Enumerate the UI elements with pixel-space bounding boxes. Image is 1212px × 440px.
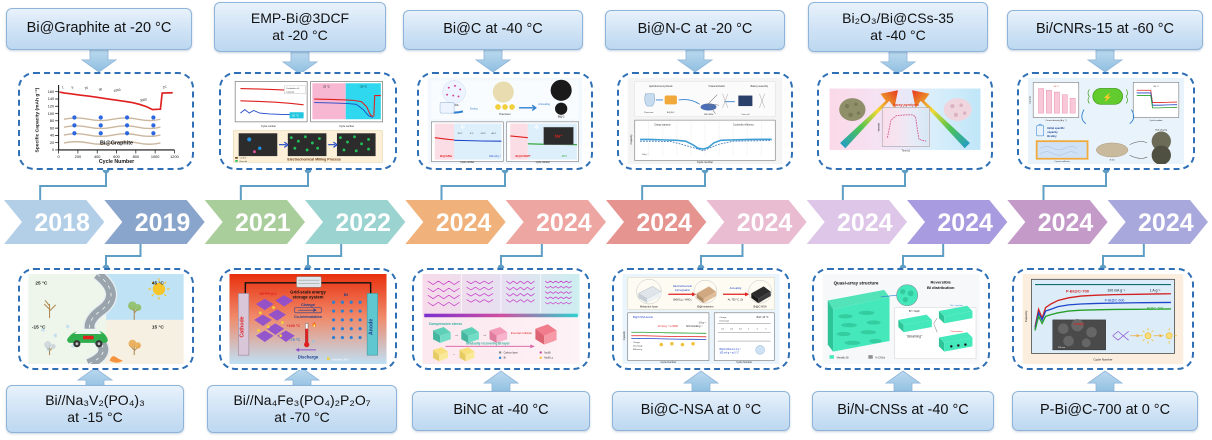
top-label-6[interactable]: Bi/CNRs-15 at -60 °C	[1007, 10, 1203, 50]
svg-text:Current density (A g⁻¹): Current density (A g⁻¹)	[1045, 119, 1066, 122]
svg-text:Both -40 °C: Both -40 °C	[757, 316, 769, 319]
callout-arrow-down-1	[283, 52, 317, 74]
timeline-year-label-2: 2021	[235, 209, 291, 237]
panel-top-5[interactable]: Spray pyrolysis Time (s) Intensity	[817, 72, 993, 170]
svg-text:Characterization: Characterization	[709, 85, 726, 88]
svg-text:impregnation: impregnation	[675, 288, 691, 292]
panel-top-2-figure: Coulombic eff.Capacity -20 °C Cycle numb…	[225, 78, 391, 164]
svg-text:Grid-scale energy: Grid-scale energy	[290, 289, 326, 294]
svg-text:60: 60	[50, 126, 54, 130]
callout-arrow-down-3	[678, 50, 712, 72]
panel-bottom-5-figure: Quasi-array structure Reversible Bi dist…	[818, 274, 984, 364]
bottom-label-2[interactable]: Bi//Na₄Fe₃(PO₄)₂P₂O₇ at -70 °C	[207, 385, 397, 433]
svg-text:160: 160	[48, 90, 54, 94]
svg-text:Ar, 700 °C, 2h: Ar, 700 °C, 2h	[728, 298, 744, 301]
connector-bottom-5	[1103, 244, 1144, 268]
svg-text:Precursor: Precursor	[499, 112, 511, 116]
svg-text:25 °C: 25 °C	[35, 281, 48, 287]
timeline-year-label-9: 2024	[937, 209, 993, 237]
panel-top-1[interactable]: 02040 6080100 120140160 0200400 60080010…	[18, 72, 194, 170]
callout-arrow-up-5	[1088, 371, 1122, 393]
svg-text:100: 100	[48, 112, 54, 116]
bottom-label-1[interactable]: Bi//Na₃V₂(PO₄)₃ at -15 °C	[6, 385, 184, 433]
svg-text:200: 200	[75, 155, 81, 159]
timeline-year-label-7: 2024	[737, 209, 793, 237]
svg-text:-20°C: -20°C	[480, 133, 486, 135]
svg-text:2C: 2C	[162, 85, 167, 90]
svg-text:Bi@C-NSA anode: Bi@C-NSA anode	[633, 316, 653, 319]
svg-text:100 mA g⁻¹: 100 mA g⁻¹	[1107, 289, 1126, 293]
svg-text:1000: 1000	[113, 88, 121, 93]
timeline-year-label-0: 2018	[34, 209, 90, 237]
timeline-year-label-3: 2022	[335, 209, 391, 237]
svg-text:❄: ❄	[534, 124, 539, 131]
svg-text:Co-intercalation: Co-intercalation	[294, 315, 323, 319]
svg-text:Internal collision: Internal collision	[511, 331, 533, 335]
top-label-4-text: Bi@N-C at -20 °C	[638, 21, 753, 39]
svg-text:Bi distribution: Bi distribution	[927, 285, 955, 290]
svg-text:❄: ❄	[65, 325, 69, 331]
panel-top-6[interactable]: -20 °C Current density (A g⁻¹) Capacity …	[1017, 72, 1195, 170]
svg-text:Coin cell: Coin cell	[741, 114, 750, 116]
svg-text:Bi: Bi	[344, 292, 348, 297]
bottom-label-1-line2: at -15 °C	[67, 409, 122, 426]
svg-text:Bi@Graphite: Bi@Graphite	[100, 141, 133, 147]
panel-top-5-figure: Spray pyrolysis Time (s) Intensity	[823, 78, 987, 164]
svg-text:0°C: 0°C	[470, 133, 474, 135]
svg-text:P-Bi@C-700: P-Bi@C-700	[1066, 289, 1090, 294]
svg-text:25 °C: 25 °C	[323, 85, 330, 89]
connector-bottom-4	[903, 244, 943, 268]
top-label-2-line1: EMP-Bi@3DCF	[251, 10, 349, 27]
panel-top-1-figure: 02040 6080100 120140160 0200400 60080010…	[24, 78, 188, 164]
svg-text:Cycle number: Cycle number	[697, 160, 713, 164]
top-label-3[interactable]: Bi@C at -40 °C	[403, 10, 583, 50]
bottom-label-6[interactable]: P-Bi@C-700 at 0 °C	[1012, 391, 1198, 431]
svg-text:Discharge: Discharge	[633, 345, 643, 347]
connector-top-0	[40, 170, 106, 200]
bottom-label-2-line2: at -70 °C	[274, 409, 329, 426]
svg-text:Annealing: Annealing	[730, 286, 742, 290]
svg-text:20: 20	[84, 86, 88, 91]
svg-text:-20 °C: -20 °C	[360, 85, 368, 89]
connector-bottom-2	[501, 244, 542, 268]
svg-text:❄: ❄	[460, 124, 465, 131]
top-label-4[interactable]: Bi@N-C at -20 °C	[605, 10, 785, 50]
callout-arrow-down-2	[476, 50, 510, 72]
timeline-year-label-6: 2024	[636, 209, 692, 237]
bottom-label-6-text: P-Bi@C-700 at 0 °C	[1040, 402, 1170, 420]
svg-text:500 nm: 500 nm	[1058, 347, 1065, 349]
svg-text:Efficiency: Efficiency	[633, 349, 643, 351]
panel-bottom-3[interactable]: Compressive stress → → Internal collisio…	[412, 268, 590, 370]
svg-text:Charge: Charge	[301, 302, 316, 307]
top-label-3-text: Bi@C at -40 °C	[443, 21, 543, 39]
svg-text:Melamine foam: Melamine foam	[640, 305, 659, 309]
svg-text:Na⁺ insertion: Na⁺ insertion	[950, 304, 963, 307]
connector-top-1	[241, 170, 308, 200]
connector-top-2	[442, 170, 506, 200]
svg-text:Specific Capacity (mAh g⁻¹): Specific Capacity (mAh g⁻¹)	[34, 87, 40, 152]
connector-bottom-1	[308, 244, 341, 268]
svg-text:Bi@melamine: Bi@melamine	[697, 305, 714, 309]
svg-text:Carbon layer: Carbon layer	[504, 351, 518, 354]
svg-text:Capacity: Capacity	[623, 330, 626, 340]
bottom-label-3-text: BiNC at -40 °C	[453, 402, 548, 420]
svg-text:NaₓBi_y: NaₓBi_y	[544, 357, 554, 360]
timeline-year-label-1: 2019	[135, 209, 191, 237]
svg-text:capacity: capacity	[1047, 130, 1058, 134]
top-label-2[interactable]: EMP-Bi@3DCF at -20 °C	[214, 2, 386, 52]
svg-text:Bi alloy: Bi alloy	[1047, 134, 1057, 138]
svg-text:Cathode: Cathode	[240, 316, 246, 337]
svg-text:Na₃Bi: Na₃Bi	[544, 351, 551, 354]
svg-text:Battery assembly: Battery assembly	[751, 85, 769, 88]
svg-text:Charge: Charge	[720, 317, 728, 319]
svg-text:40: 40	[50, 134, 54, 138]
bottom-label-4-text: Bi@C-NSA at 0 °C	[641, 402, 761, 420]
top-label-1[interactable]: Bi@Graphite at -20 °C	[6, 8, 192, 50]
svg-text:Na⁺: Na⁺	[555, 134, 563, 139]
svg-text:1 A g⁻¹: 1 A g⁻¹	[642, 153, 649, 156]
timeline-bar: 2018201920212022202420242024202420242024…	[4, 200, 1208, 244]
svg-text:Compressive stress: Compressive stress	[429, 322, 462, 326]
svg-text:15 °C: 15 °C	[152, 325, 165, 331]
top-label-2-line2: at -20 °C	[272, 27, 327, 44]
top-label-5-line2: at -40 °C	[870, 27, 925, 44]
svg-text:Reversible: Reversible	[930, 280, 951, 285]
svg-text:"Breathing": "Breathing"	[906, 335, 923, 339]
svg-text:Spray pyrolysis: Spray pyrolysis	[893, 103, 919, 107]
svg-text:3000: 3000	[140, 97, 148, 102]
svg-text:Capacity: Capacity	[1024, 310, 1028, 322]
callout-arrow-down-4	[881, 52, 915, 74]
svg-text:Bismuth: Bismuth	[240, 160, 248, 163]
svg-text:140: 140	[48, 97, 54, 101]
svg-text:Coulombic efficiency: Coulombic efficiency	[733, 124, 755, 126]
svg-text:Discharge: Discharge	[298, 355, 319, 360]
timeline-year-label-4: 2024	[436, 209, 492, 237]
svg-text:Bi@C-NSA: Bi@C-NSA	[754, 305, 767, 309]
svg-text:→: →	[454, 332, 458, 337]
svg-text:25°C: 25°C	[458, 133, 463, 135]
svg-text:Carbon: Carbon	[240, 157, 248, 160]
svg-text:100 mA g⁻¹ at 0 °C: 100 mA g⁻¹ at 0 °C	[720, 351, 740, 354]
panel-bottom-3-figure: Compressive stress → → Internal collisio…	[418, 274, 584, 364]
svg-text:Bi@C-NSA at 1 A g⁻¹: Bi@C-NSA at 1 A g⁻¹	[720, 348, 742, 351]
svg-text:5: 5	[71, 85, 74, 89]
svg-text:❄: ❄	[312, 339, 316, 344]
svg-text:Cycle number: Cycle number	[339, 125, 354, 128]
connector-top-4	[843, 170, 905, 200]
top-label-5-line1: Bi₂O₃/Bi@CSs-35	[842, 10, 954, 27]
figure-vector-layer: 2018201920212022202420242024202420242024…	[0, 0, 1212, 440]
svg-text:Bi@C: Bi@C	[558, 114, 565, 118]
top-label-6-text: Bi/CNRs-15 at -60 °C	[1036, 21, 1174, 39]
svg-text:Cycle number: Cycle number	[460, 162, 474, 164]
panel-top-6-figure: -20 °C Current density (A g⁻¹) Capacity …	[1023, 78, 1189, 164]
svg-text:❄: ❄	[46, 348, 50, 354]
callout-arrow-up-4	[886, 371, 920, 393]
svg-text:0: 0	[52, 148, 54, 152]
svg-text:Discharge: Discharge	[720, 321, 730, 323]
timeline-year-label-10: 2024	[1038, 209, 1094, 237]
svg-text:0: 0	[58, 155, 60, 159]
svg-text:Cycle Number: Cycle Number	[1093, 357, 1112, 361]
top-label-5[interactable]: Bi₂O₃/Bi@CSs-35 at -40 °C	[808, 2, 988, 52]
panel-bottom-1[interactable]: ❄❄❄ ❄❄ 25 °C 45 °C -15 °C 15	[18, 268, 194, 370]
connector-bottom-0	[106, 244, 141, 268]
svg-text:🔥: 🔥	[312, 322, 318, 327]
svg-text:Bi@C/Na: Bi@C/Na	[440, 154, 452, 158]
svg-text:-15 °C: -15 °C	[32, 325, 46, 331]
timeline-year-label-8: 2024	[837, 209, 893, 237]
svg-text:100 mA g⁻¹: 100 mA g⁻¹	[489, 155, 501, 158]
svg-text:Electrochemical Milling Proces: Electrochemical Milling Process	[287, 157, 341, 161]
svg-text:Cycle number: Cycle number	[1150, 119, 1163, 122]
bottom-label-1-line1: Bi//Na₃V₂(PO₄)₃	[45, 392, 145, 409]
svg-text:1200: 1200	[170, 155, 179, 159]
svg-text:1 A g⁻¹: 1 A g⁻¹	[1150, 289, 1162, 293]
svg-text:1 A g⁻¹: 1 A g⁻¹	[698, 321, 706, 324]
svg-text:Cycle Number: Cycle Number	[99, 159, 134, 164]
callout-arrow-down-5	[1088, 50, 1122, 72]
svg-text:storage system: storage system	[293, 295, 324, 300]
svg-text:-20 °C: -20 °C	[1053, 86, 1059, 88]
bottom-label-5-text: Bi/N-CNSs at -40 °C	[837, 402, 969, 420]
panel-top-2[interactable]: Coulombic eff.Capacity -20 °C Cycle numb…	[219, 72, 397, 170]
panel-top-4-figure: Hydrothermal synthesis Characterization …	[623, 78, 787, 164]
svg-text:Drying: Drying	[470, 107, 478, 111]
svg-text:Bi foil: Bi foil	[1110, 159, 1115, 161]
svg-text:NFPP@C: NFPP@C	[259, 291, 277, 296]
connector-top-5	[1044, 170, 1107, 200]
svg-text:50: 50	[98, 87, 102, 92]
svg-text:P-Bi@C: P-Bi@C	[1074, 322, 1086, 326]
callout-arrow-up-3	[684, 371, 718, 393]
svg-text:Capacity: Capacity	[286, 90, 295, 93]
svg-text:⚡: ⚡	[1103, 92, 1113, 102]
svg-text:Pulverization: Pulverization	[951, 330, 964, 333]
bottom-label-3[interactable]: BiNC at -40 °C	[412, 391, 590, 431]
svg-text:Coulombic eff.: Coulombic eff.	[286, 88, 300, 90]
timeline-year-label-11: 2024	[1138, 209, 1194, 237]
svg-text:Electrochemical: Electrochemical	[673, 284, 692, 288]
svg-text:80: 80	[50, 119, 54, 123]
svg-text:Bi@N-C: Bi@N-C	[667, 112, 675, 114]
svg-text:Precursor: Precursor	[644, 111, 653, 114]
svg-text:+100 °C: +100 °C	[287, 324, 301, 328]
svg-text:Time (s): Time (s)	[902, 151, 910, 153]
svg-text:Bi@C//NVP: Bi@C//NVP	[516, 154, 531, 158]
svg-text:Quasi-array structure: Quasi-array structure	[834, 281, 879, 286]
svg-text:Capacity: Capacity	[1029, 95, 1032, 104]
svg-text:Bulk alloying: Bulk alloying	[1155, 130, 1168, 132]
svg-text:Bi@C-700: Bi@C-700	[1147, 306, 1163, 310]
panel-bottom-5[interactable]: Quasi-array structure Reversible Bi dist…	[812, 268, 990, 370]
bottom-label-5[interactable]: Bi/N-CNSs at -40 °C	[812, 391, 994, 431]
panel-top-3[interactable]: NTCDA Drying Precursor Annealing Bi@C	[417, 72, 593, 170]
svg-text:1: 1	[61, 85, 64, 89]
panel-bottom-4[interactable]: Melamine foam Electrochemical impregnati…	[612, 268, 790, 370]
svg-text:→: →	[482, 332, 486, 337]
callout-arrow-down-0	[82, 50, 116, 72]
svg-text:solvated Na⁺: solvated Na⁺	[332, 357, 350, 361]
svg-text:Capacity: Capacity	[629, 134, 633, 145]
connector-bottom-3	[701, 244, 743, 268]
svg-text:→: →	[452, 352, 456, 356]
panel-bottom-6[interactable]: P-Bi@C-700 100 mA g⁻¹ 1 A g⁻¹ P-Bi@C-600…	[1012, 268, 1194, 370]
svg-text:-40°C: -40°C	[561, 156, 567, 158]
bottom-label-2-line1: Bi//Na₄Fe₃(PO₄)₂P₂O₇	[233, 392, 370, 409]
bottom-label-4[interactable]: Bi@C-NSA at 0 °C	[612, 391, 790, 431]
panel-bottom-2[interactable]: Cathode Anode NFPP@C	[219, 268, 397, 370]
svg-text:-60 °C: -60 °C	[1153, 86, 1159, 88]
svg-text:Initial specific: Initial specific	[1047, 126, 1065, 130]
svg-text:-70 °C: -70 °C	[290, 338, 301, 342]
svg-text:Cycle number: Cycle number	[536, 162, 550, 164]
svg-text:❄: ❄	[53, 334, 57, 340]
svg-text:Cycle Number: Cycle Number	[736, 361, 752, 364]
svg-text:N-CNSs: N-CNSs	[875, 356, 885, 360]
svg-text:Charge: Charge	[633, 342, 641, 344]
svg-text:Anode: Anode	[368, 319, 374, 335]
timeline-figure: 2018201920212022202420242024202420242024…	[0, 0, 1212, 440]
svg-text:45 °C: 45 °C	[152, 281, 165, 287]
panel-bottom-4-figure: Melamine foam Electrochemical impregnati…	[618, 274, 784, 364]
svg-text:Intensity: Intensity	[878, 122, 881, 131]
top-label-1-text: Bi@Graphite at -20 °C	[27, 20, 172, 38]
panel-bottom-2-figure: Cathode Anode NFPP@C	[225, 274, 391, 364]
connector-top-3	[642, 170, 705, 200]
svg-text:-40°C: -40°C	[491, 133, 497, 135]
svg-text:XRD/SEM: XRD/SEM	[704, 114, 714, 116]
callout-arrow-up-2	[484, 371, 518, 393]
svg-text:20: 20	[50, 141, 54, 145]
svg-text:Current collector: Current collector	[1054, 160, 1070, 163]
svg-text:10 mA g⁻¹ to 5000: 10 mA g⁻¹ to 5000	[658, 325, 679, 328]
svg-text:Charge capacity: Charge capacity	[654, 123, 671, 126]
panel-bottom-6-figure: P-Bi@C-700 100 mA g⁻¹ 1 A g⁻¹ P-Bi@C-600…	[1018, 274, 1188, 364]
svg-text:Soft Grinding⁻¹: Soft Grinding⁻¹	[686, 325, 703, 328]
svg-text:Metallic Bi: Metallic Bi	[837, 356, 849, 360]
svg-text:Bi⁰ / Na₃Bi: Bi⁰ / Na₃Bi	[909, 310, 920, 313]
svg-text:Annealing: Annealing	[538, 102, 550, 106]
panel-top-3-figure: NTCDA Drying Precursor Annealing Bi@C	[423, 78, 587, 164]
svg-text:120: 120	[48, 104, 54, 108]
panel-bottom-1-figure: ❄❄❄ ❄❄ 25 °C 45 °C -15 °C 15	[24, 274, 188, 364]
panel-top-4[interactable]: Hydrothermal synthesis Characterization …	[617, 72, 793, 170]
svg-text:-20 °C: -20 °C	[291, 114, 299, 118]
svg-text:Bi(NO₃)₃ / HNO₃: Bi(NO₃)₃ / HNO₃	[673, 298, 691, 301]
svg-text:1000: 1000	[151, 155, 160, 159]
svg-text:Cycle Number: Cycle Number	[661, 361, 677, 364]
svg-text:Cycle number: Cycle number	[261, 125, 276, 128]
timeline-year-label-5: 2024	[536, 209, 592, 237]
svg-text:Gradually recovering Bi layer: Gradually recovering Bi layer	[466, 342, 511, 346]
svg-text:Hydrothermal synthesis: Hydrothermal synthesis	[649, 85, 674, 88]
svg-text:P-Bi@C-600: P-Bi@C-600	[1105, 298, 1125, 302]
